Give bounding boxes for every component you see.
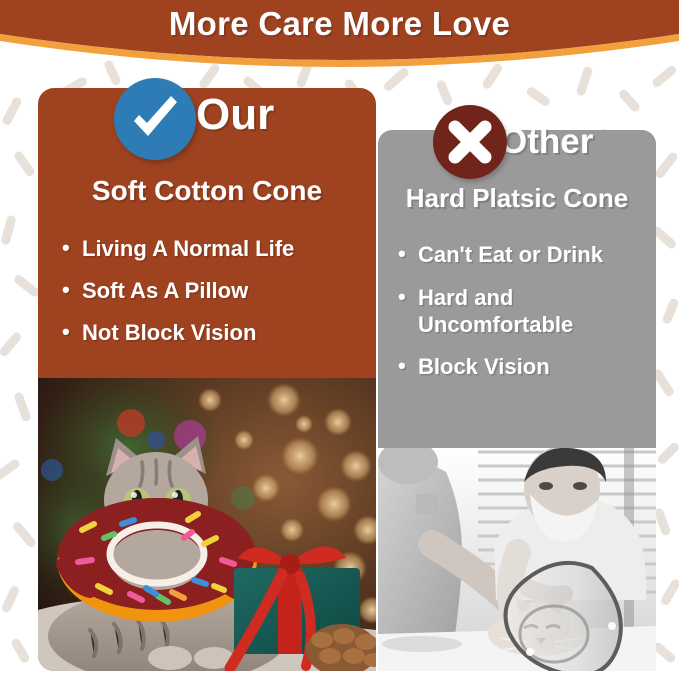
list-item: Not Block Vision <box>62 320 362 346</box>
x-circle-icon <box>433 105 507 179</box>
banner-shape-svg <box>0 0 679 80</box>
label-other: Other <box>500 122 593 162</box>
photo-other-product <box>378 448 656 671</box>
photo-other-illustration <box>378 448 656 671</box>
photo-our-illustration <box>38 378 376 671</box>
label-our: Our <box>196 90 274 140</box>
bullet-list-our: Living A Normal Life Soft As A Pillow No… <box>62 236 362 362</box>
list-item: Soft As A Pillow <box>62 278 362 304</box>
x-mark-glyph <box>433 105 507 179</box>
list-item: Hard and Uncomfortable <box>398 285 648 339</box>
check-mark-glyph <box>114 78 196 160</box>
header-banner <box>0 0 679 78</box>
photo-our-product <box>38 378 376 671</box>
subtitle-our: Soft Cotton Cone <box>38 175 376 207</box>
check-circle-icon <box>114 78 196 160</box>
list-item: Living A Normal Life <box>62 236 362 262</box>
subtitle-other: Hard Platsic Cone <box>378 183 656 214</box>
list-item: Can't Eat or Drink <box>398 242 648 269</box>
list-item: Block Vision <box>398 354 648 381</box>
bullet-list-other: Can't Eat or Drink Hard and Uncomfortabl… <box>398 242 648 397</box>
